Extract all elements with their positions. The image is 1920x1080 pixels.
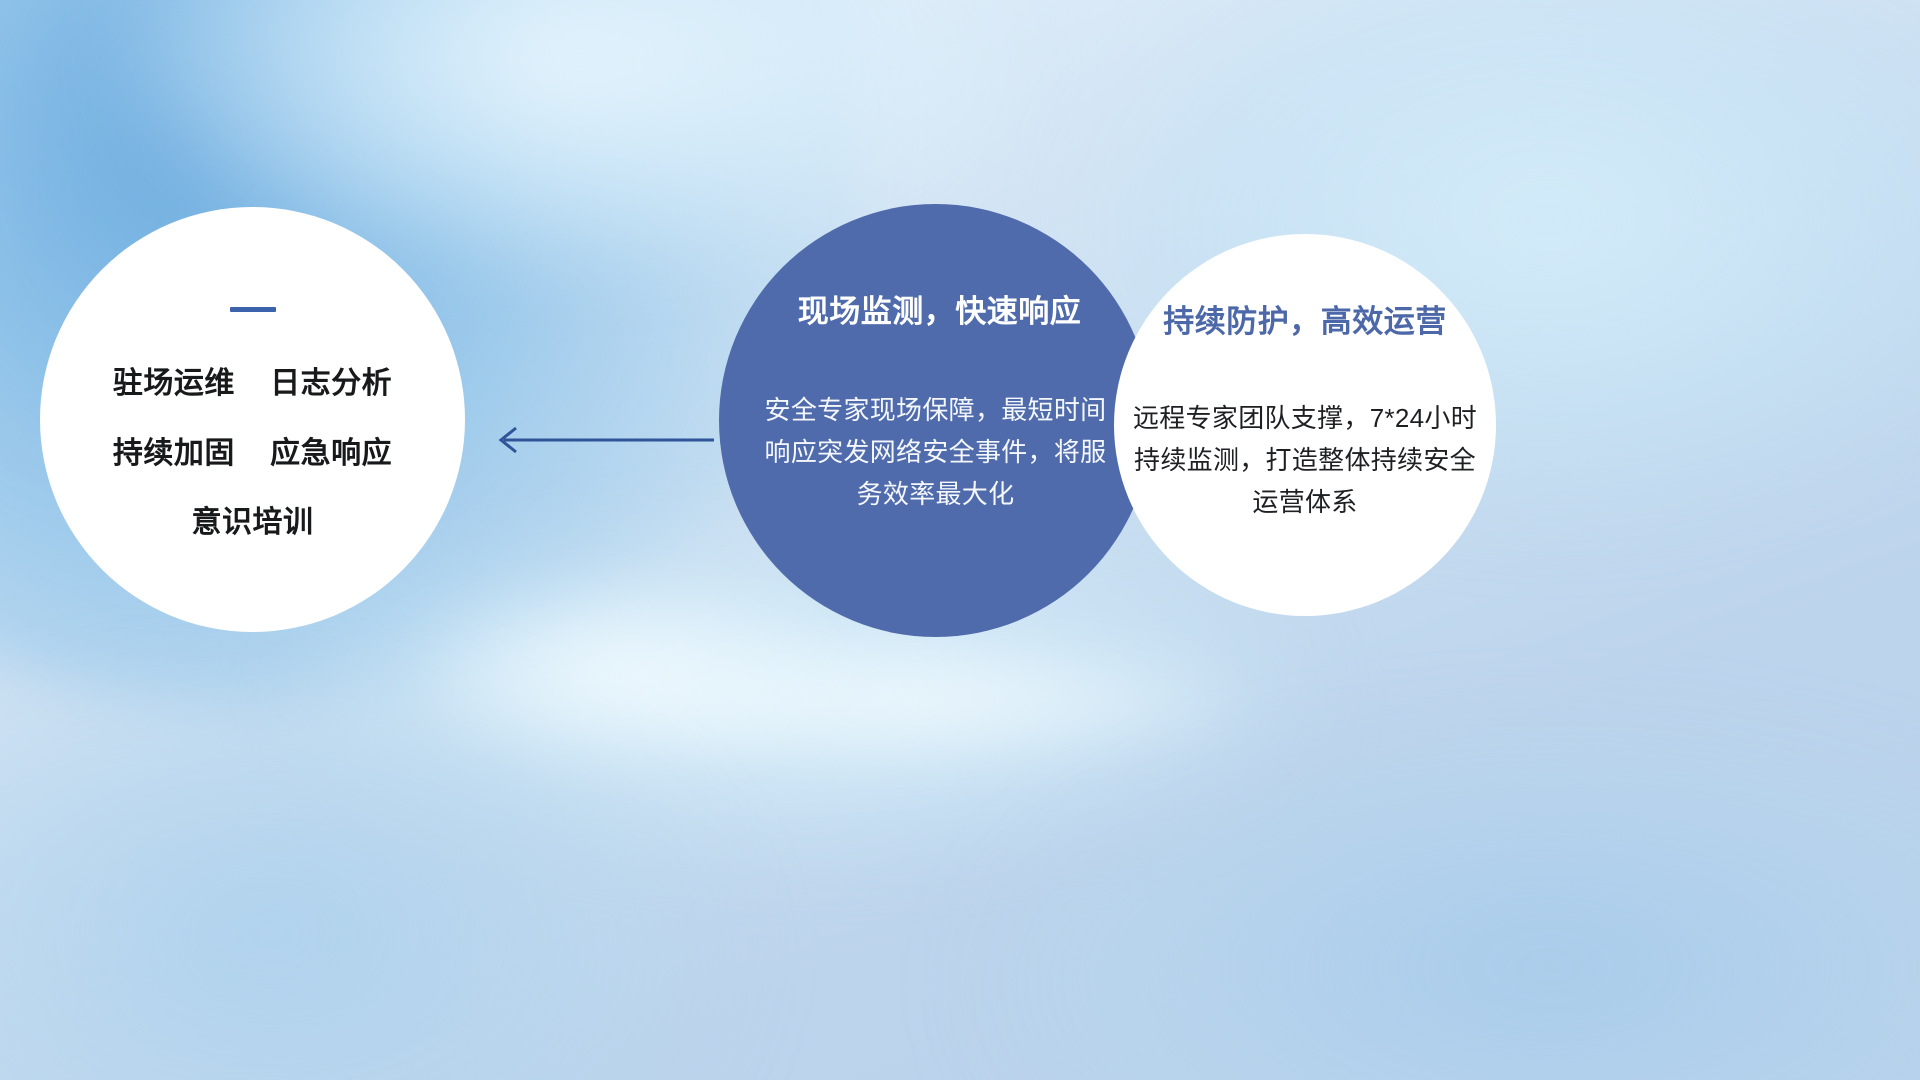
- card-continuous-protection-title: 持续防护，高效运营: [1114, 296, 1496, 341]
- card-onsite-monitoring-content: 现场监测，快速响应 安全专家现场保障，最短时间响应突发网络安全事件，将服务效率最…: [719, 286, 1152, 515]
- background-sheen-center: [620, 640, 1240, 760]
- card-service-capabilities[interactable]: 驻场运维 日志分析 持续加固 应急响应 意识培训: [40, 207, 465, 632]
- horizontal-dash-icon: [230, 307, 276, 312]
- card-service-capabilities-content: 驻场运维 日志分析 持续加固 应急响应 意识培训: [40, 307, 465, 539]
- capability-row-2: 持续加固 应急响应: [40, 438, 465, 470]
- capability-row-1: 驻场运维 日志分析: [40, 368, 465, 400]
- capability-row-3: 意识培训: [40, 507, 465, 539]
- card-onsite-monitoring[interactable]: 现场监测，快速响应 安全专家现场保障，最短时间响应突发网络安全事件，将服务效率最…: [719, 204, 1152, 637]
- card-onsite-monitoring-body: 安全专家现场保障，最短时间响应突发网络安全事件，将服务效率最大化: [719, 389, 1152, 515]
- card-onsite-monitoring-title: 现场监测，快速响应: [727, 286, 1152, 331]
- slide-canvas: 驻场运维 日志分析 持续加固 应急响应 意识培训 现场监测，快速响应 安全专家现…: [0, 0, 1920, 1080]
- card-continuous-protection-content: 持续防护，高效运营 远程专家团队支撑，7*24小时持续监测，打造整体持续安全运营…: [1114, 296, 1496, 523]
- left-arrow-icon: [490, 418, 715, 462]
- card-continuous-protection-body: 远程专家团队支撑，7*24小时持续监测，打造整体持续安全运营体系: [1114, 397, 1496, 523]
- card-continuous-protection[interactable]: 持续防护，高效运营 远程专家团队支撑，7*24小时持续监测，打造整体持续安全运营…: [1114, 234, 1496, 616]
